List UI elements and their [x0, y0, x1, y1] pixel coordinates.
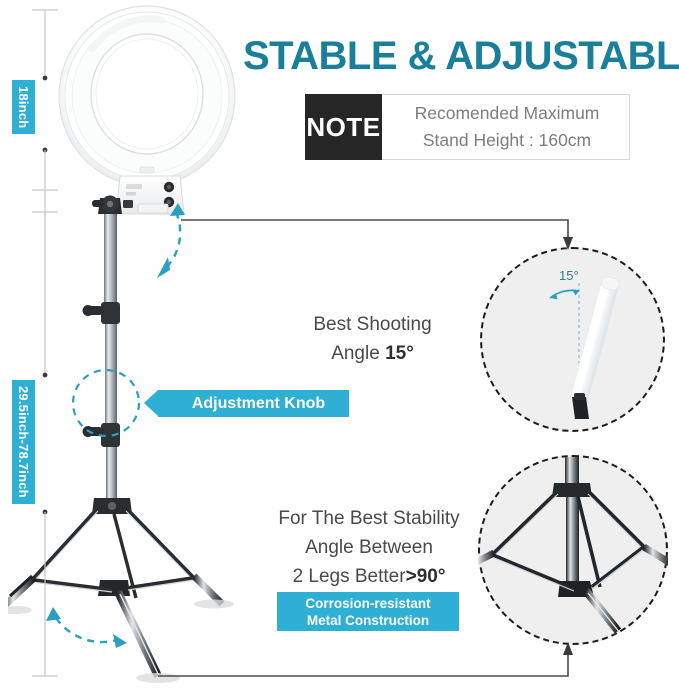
knob-banner-arrow-icon	[144, 390, 158, 416]
callout-adjustment-knob: Adjustment Knob	[158, 390, 349, 417]
metal-line-2: Metal Construction	[307, 612, 429, 629]
stability-line-1: For The Best Stability	[258, 504, 480, 533]
stability-line-2: Angle Between	[258, 533, 480, 562]
caption-shooting-angle: Best Shooting Angle 15°	[275, 310, 470, 368]
note-text: Recomended Maximum Stand Height : 160cm	[388, 100, 626, 154]
shoot-line-1: Best Shooting	[275, 310, 470, 339]
page-title: STABLE & ADJUSTABLE	[243, 36, 679, 76]
stability-line-3-prefix: 2 Legs Better	[293, 566, 406, 587]
caption-leg-stability: For The Best Stability Angle Between 2 L…	[258, 504, 480, 591]
note-line-1: Recomended Maximum	[415, 103, 600, 123]
light-stand-icon	[8, 180, 258, 690]
shoot-angle-value: 15°	[385, 343, 414, 364]
callout-metal-construction: Corrosion-resistant Metal Construction	[277, 592, 459, 631]
tilt-tube-icon: 15°	[480, 247, 665, 432]
metal-line-1: Corrosion-resistant	[305, 595, 430, 612]
measurement-label-ring-diameter: 18inch	[12, 80, 35, 134]
shoot-line-2-prefix: Angle	[331, 343, 385, 364]
angle-value-label: 15°	[559, 268, 579, 283]
shoot-line-2: Angle 15°	[275, 339, 470, 368]
stability-angle-value: >90°	[406, 566, 446, 587]
tripod-legs-detail-icon	[478, 455, 668, 645]
measurement-label-stand-height: 29.5inch-78.7inch	[12, 380, 35, 504]
stability-line-3: 2 Legs Better>90°	[258, 562, 480, 591]
product-infographic: STABLE & ADJUSTABLE NOTE Recomended Maxi…	[0, 0, 679, 692]
note-line-2: Stand Height : 160cm	[388, 127, 626, 154]
note-tag: NOTE	[305, 94, 382, 160]
